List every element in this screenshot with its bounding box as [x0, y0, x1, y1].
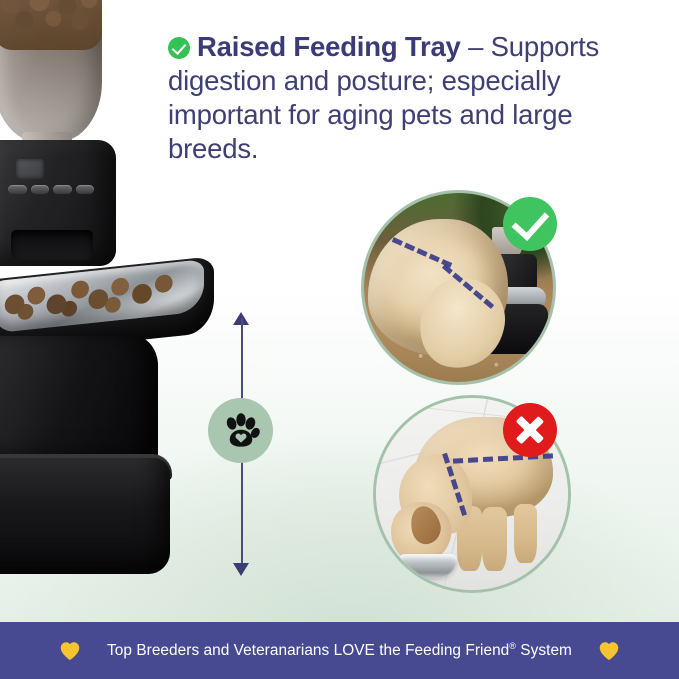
endorsement-text-after: System	[516, 642, 572, 659]
automatic-pet-feeder	[0, 0, 236, 592]
feeder-dispense-chute	[11, 230, 93, 260]
feeder-button-row	[8, 183, 94, 196]
endorsement-banner: Top Breeders and Veteranarians LOVE the …	[0, 622, 679, 679]
feeder-display-screen	[16, 159, 44, 179]
endorsement-text: Top Breeders and Veteranarians LOVE the …	[107, 641, 572, 660]
x-icon	[515, 415, 545, 445]
feeder-control-head	[0, 140, 116, 266]
feeder-button	[31, 185, 50, 194]
green-check-badge	[503, 197, 557, 251]
hopper-kibble	[0, 0, 102, 50]
heading-text: Raised Feeding Tray – Supports digestion…	[168, 30, 660, 166]
paw-heart-badge	[208, 398, 273, 463]
heading-dash: –	[461, 31, 491, 62]
heart-icon	[59, 641, 81, 661]
endorsement-text-before: Top Breeders and Veteranarians LOVE the …	[107, 642, 509, 659]
kibble-hopper	[0, 0, 102, 142]
tray-bowl-surface	[0, 259, 204, 333]
infographic-canvas: Raised Feeding Tray – Supports digestion…	[0, 0, 679, 679]
tray-kibble	[0, 269, 182, 324]
feeder-button	[53, 185, 72, 194]
feature-heading-block: Raised Feeding Tray – Supports digestion…	[168, 30, 660, 166]
feature-title: Raised Feeding Tray	[197, 31, 461, 62]
black-base-tray	[0, 458, 170, 574]
registered-mark: ®	[509, 641, 516, 651]
arrow-head-down-icon	[233, 563, 249, 576]
feeder-riser-stand	[0, 336, 158, 466]
labrador-hind-leg	[514, 504, 537, 564]
heart-icon	[598, 641, 620, 661]
paw-heart-icon	[221, 411, 261, 451]
labrador-leg	[482, 507, 507, 570]
feeder-button	[8, 185, 27, 194]
feeder-button	[76, 185, 95, 194]
red-x-badge	[503, 403, 557, 457]
